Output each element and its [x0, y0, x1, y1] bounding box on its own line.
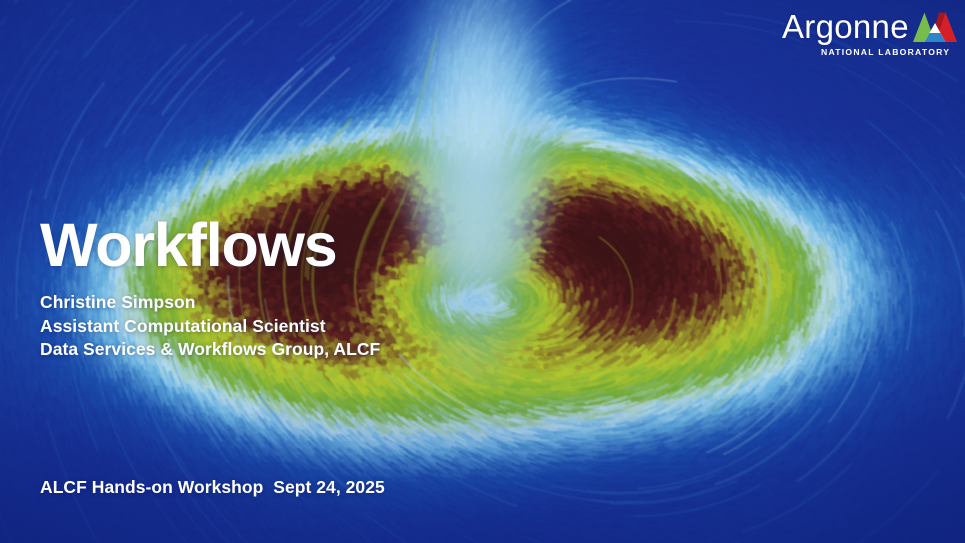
presenter-group: Data Services & Workflows Group, ALCF	[40, 338, 380, 362]
argonne-wordmark: Argonne	[782, 9, 909, 45]
argonne-triangle-icon	[913, 11, 957, 43]
presenter-name: Christine Simpson	[40, 291, 380, 315]
presenter-block: Christine Simpson Assistant Computationa…	[40, 291, 380, 362]
footer-container: ALCF Hands-on Workshop Sept 24, 2025	[40, 477, 385, 498]
argonne-logo[interactable]: Argonne NATIONAL LABORATORY	[782, 9, 957, 61]
argonne-tagline: NATIONAL LABORATORY	[821, 47, 950, 57]
presenter-role: Assistant Computational Scientist	[40, 315, 380, 339]
page-title: Workflows	[40, 215, 337, 276]
title-slide: Argonne NATIONAL LABORATORY Workflows Ch…	[0, 0, 965, 543]
footer-event-and-date: ALCF Hands-on Workshop Sept 24, 2025	[40, 477, 385, 498]
title-container: Workflows	[40, 215, 337, 276]
